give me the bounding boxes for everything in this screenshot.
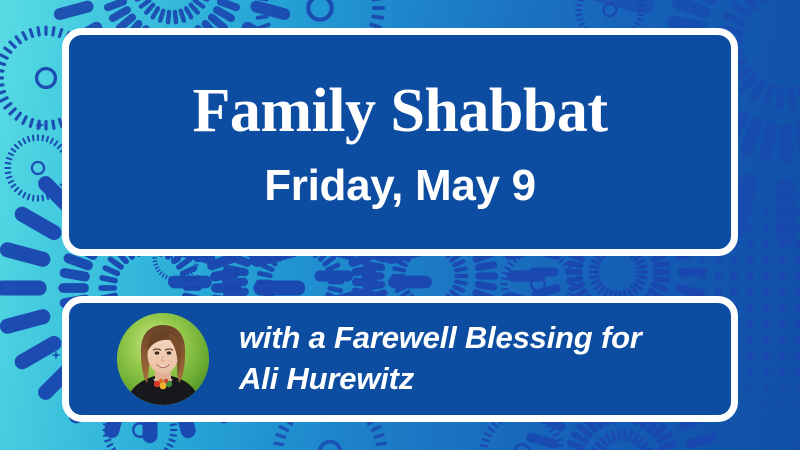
honoree-card: with a Farewell Blessing for Ali Hurewit… [62,296,738,422]
headline-card: Family Shabbat Friday, May 9 [62,28,738,256]
honoree-name: Ali Hurewitz [239,359,642,400]
avatar [117,313,209,405]
farewell-blessing-text: with a Farewell Blessing for Ali Hurewit… [239,318,642,400]
page-title: Family Shabbat [192,80,607,142]
blessing-line-1: with a Farewell Blessing for [239,318,642,359]
sparkle-star-icon [35,120,61,360]
flyer-canvas: Family Shabbat Friday, May 9 [0,0,800,450]
event-date: Friday, May 9 [264,164,536,208]
